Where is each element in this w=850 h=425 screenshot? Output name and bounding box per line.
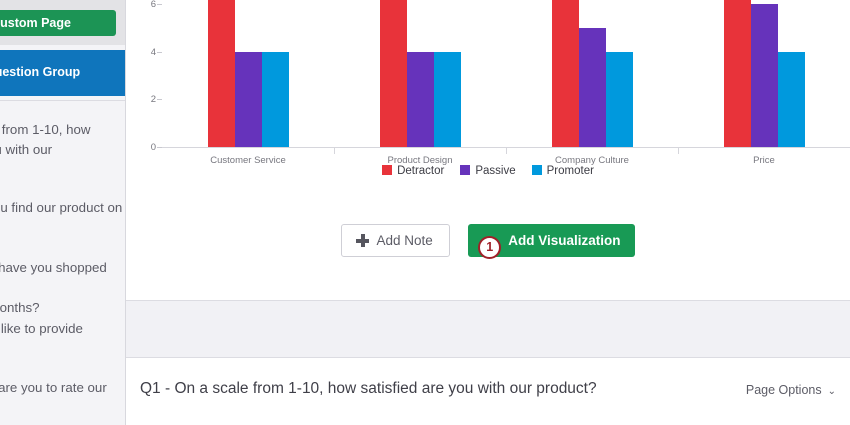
bar-promoter-3 <box>778 52 805 147</box>
card-actions: Add Note 1Add Visualization <box>126 224 850 257</box>
step-badge: 1 <box>478 236 501 259</box>
add-custom-page-button[interactable]: + Add Custom Page <box>0 10 116 36</box>
sidebar-toolbar: + Add Custom Page <box>0 0 126 45</box>
legend-label: Promoter <box>547 165 594 177</box>
bar-detractor-0 <box>208 0 235 147</box>
chart-legend: DetractorPassivePromoter <box>126 165 850 177</box>
legend-item-promoter[interactable]: Promoter <box>532 165 594 177</box>
sidebar-item-q3[interactable]: Q3 - How often have you shopped with us … <box>0 258 125 318</box>
sidebar-item-q1[interactable]: Q1 - On a scale from 1-10, how satisfied… <box>0 120 125 180</box>
bar-passive-0 <box>235 52 262 147</box>
plot-area <box>162 0 850 148</box>
legend-swatch-icon <box>382 165 392 175</box>
legend-label: Passive <box>475 165 515 177</box>
x-axis-group-tick <box>334 148 335 154</box>
legend-swatch-icon <box>460 165 470 175</box>
bar-promoter-0 <box>262 52 289 147</box>
app-root: + Add Custom Page Question Group Q1 - On… <box>0 0 850 425</box>
question-header: Q1 - On a scale from 1-10, how satisfied… <box>126 358 850 425</box>
sidebar-item-q5[interactable]: Q5 - How likely are you to rate our comp… <box>0 378 125 425</box>
bar-passive-3 <box>751 4 778 147</box>
main-panel: 0246Customer ServiceProduct DesignCompan… <box>126 0 850 425</box>
legend-item-detractor[interactable]: Detractor <box>382 165 444 177</box>
chevron-down-icon: ⌄ <box>828 386 836 397</box>
page-options-dropdown[interactable]: Page Options⌄ <box>746 383 836 397</box>
sidebar-divider <box>0 100 126 101</box>
bar-promoter-2 <box>606 52 633 147</box>
section-spacer <box>126 301 850 358</box>
y-axis-tick <box>157 4 162 5</box>
left-sidebar: + Add Custom Page Question Group Q1 - On… <box>0 0 126 425</box>
y-axis-tick-label: 4 <box>130 47 156 58</box>
page-title: Q1 - On a scale from 1-10, how satisfied… <box>140 380 597 398</box>
legend-item-passive[interactable]: Passive <box>460 165 515 177</box>
y-axis-tick-label: 6 <box>130 0 156 10</box>
page-options-label: Page Options <box>746 383 822 397</box>
bar-passive-2 <box>579 28 606 147</box>
add-note-button[interactable]: Add Note <box>341 224 449 257</box>
plus-icon <box>356 234 369 247</box>
visualization-card: 0246Customer ServiceProduct DesignCompan… <box>126 0 850 301</box>
sidebar-item-question-group[interactable]: Question Group <box>0 50 126 96</box>
add-visualization-button[interactable]: 1Add Visualization <box>468 224 634 257</box>
grouped-bar-chart: 0246Customer ServiceProduct DesignCompan… <box>126 0 850 148</box>
add-visualization-label: Add Visualization <box>508 233 620 248</box>
add-note-label: Add Note <box>376 233 432 248</box>
legend-label: Detractor <box>397 165 444 177</box>
bar-detractor-2 <box>552 0 579 147</box>
sidebar-item-q4[interactable]: Q4 - Would you like to provide additiona… <box>0 319 125 379</box>
x-axis-group-tick <box>506 148 507 154</box>
y-axis-tick <box>157 147 162 148</box>
y-axis-tick-label: 2 <box>130 94 156 105</box>
bar-detractor-3 <box>724 0 751 147</box>
bar-detractor-1 <box>380 0 407 147</box>
sidebar-item-q2[interactable]: Q2 - How did you find our product on the… <box>0 198 125 258</box>
legend-swatch-icon <box>532 165 542 175</box>
y-axis-tick-label: 0 <box>130 142 156 153</box>
x-axis-group-tick <box>678 148 679 154</box>
bar-passive-1 <box>407 52 434 147</box>
y-axis-tick <box>157 52 162 53</box>
sidebar-item-question-group-label: Question Group <box>0 65 80 79</box>
y-axis-tick <box>157 99 162 100</box>
bar-promoter-1 <box>434 52 461 147</box>
